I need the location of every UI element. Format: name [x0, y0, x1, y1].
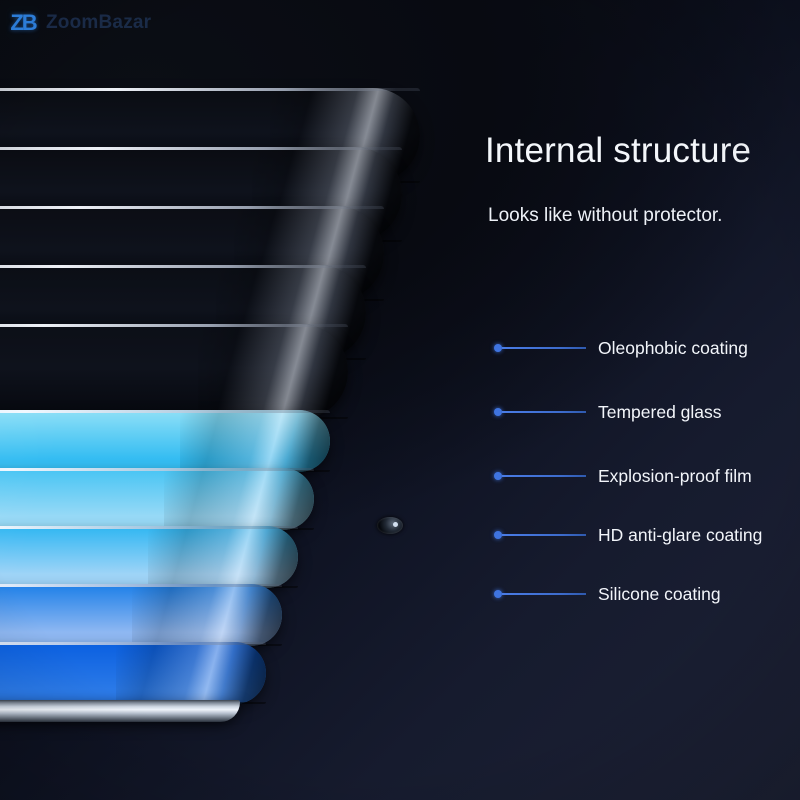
callout-row: Oleophobic coating	[494, 337, 748, 359]
callout-row: Explosion-proof film	[494, 465, 752, 487]
layer-screen-5	[0, 642, 266, 704]
layer-screen-1-edge-bevel	[180, 410, 330, 472]
layer-tempered-glass-top-highlight	[0, 147, 402, 150]
phone-bottom-frame	[0, 700, 240, 722]
layer-screen-1	[0, 410, 330, 472]
layer-screen-2-edge-bevel	[164, 468, 314, 530]
layer-screen-3	[0, 526, 298, 588]
layer-screen-5-top-highlight	[0, 642, 266, 645]
callout-label: HD anti-glare coating	[598, 525, 762, 546]
layer-silicone-coating	[0, 324, 348, 419]
layer-screen-1-top-highlight	[0, 410, 330, 413]
callout-leader-line	[502, 411, 586, 413]
callout-dot-icon	[494, 590, 502, 598]
layer-hd-anti-glare-top-highlight	[0, 265, 366, 268]
layer-explosion-proof-film-top-highlight	[0, 206, 384, 209]
callout-row: Silicone coating	[494, 583, 721, 605]
callout-leader-line	[502, 593, 586, 595]
callout-row: Tempered glass	[494, 401, 722, 423]
callout-dot-icon	[494, 531, 502, 539]
callout-leader-line	[502, 534, 586, 536]
layer-screen-5-edge-bevel	[116, 642, 266, 704]
layer-screen-3-edge-bevel	[148, 526, 298, 588]
callout-label: Explosion-proof film	[598, 466, 752, 487]
layer-screen-4-top-highlight	[0, 584, 282, 587]
callout-leader-line	[502, 475, 586, 477]
layer-oleophobic-coating-top-highlight	[0, 88, 420, 91]
punch-hole-camera-icon	[377, 517, 403, 534]
layer-screen-4	[0, 584, 282, 646]
layer-screen-3-top-highlight	[0, 526, 298, 529]
callout-row: HD anti-glare coating	[494, 524, 762, 546]
page-title: Internal structure	[485, 131, 751, 171]
callout-leader-line	[502, 347, 586, 349]
page-subtitle: Looks like without protector.	[488, 205, 722, 227]
callout-label: Silicone coating	[598, 584, 721, 605]
callout-label: Tempered glass	[598, 402, 722, 423]
info-panel: Internal structure Looks like without pr…	[470, 0, 800, 800]
product-illustration-slide: Internal structure Looks like without pr…	[0, 0, 800, 800]
callout-dot-icon	[494, 408, 502, 416]
layer-screen-4-edge-bevel	[132, 584, 282, 646]
layer-screen-2-top-highlight	[0, 468, 314, 471]
layer-silicone-coating-edge-bevel	[198, 324, 348, 419]
callout-dot-icon	[494, 472, 502, 480]
layer-screen-2	[0, 468, 314, 530]
callout-dot-icon	[494, 344, 502, 352]
layer-silicone-coating-top-highlight	[0, 324, 348, 327]
callout-label: Oleophobic coating	[598, 338, 748, 359]
